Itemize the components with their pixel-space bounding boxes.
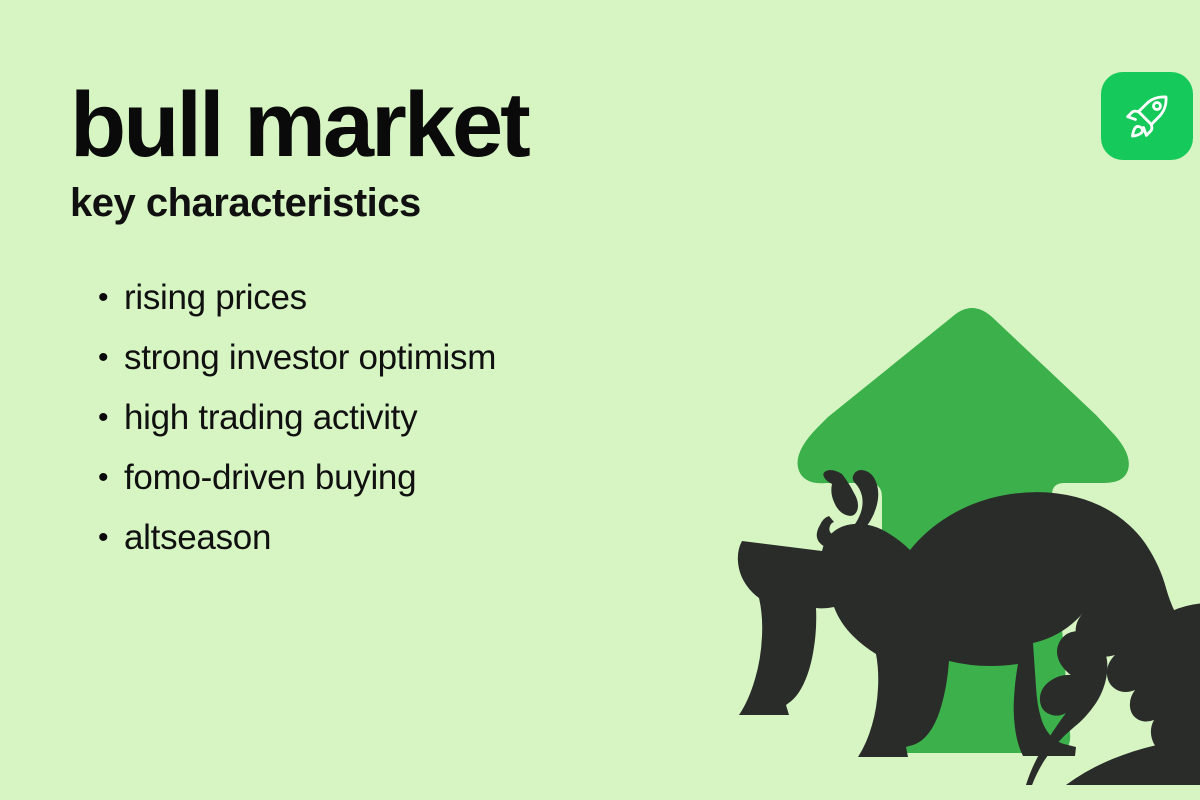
page-subtitle: key characteristics xyxy=(70,181,710,226)
list-item: • strong investor optimism xyxy=(98,328,496,388)
bull-market-illustration xyxy=(700,285,1200,785)
bullet-marker-icon: • xyxy=(98,268,124,328)
poster-canvas: bull market key characteristics • rising… xyxy=(0,0,1200,800)
list-item: • altseason xyxy=(98,508,496,568)
bullet-marker-icon: • xyxy=(98,448,124,508)
list-item: • fomo-driven buying xyxy=(98,448,496,508)
list-item-label: altseason xyxy=(124,508,271,568)
bullet-marker-icon: • xyxy=(98,388,124,448)
heading-block: bull market key characteristics xyxy=(70,82,710,226)
list-item: • high trading activity xyxy=(98,388,496,448)
bullet-marker-icon: • xyxy=(98,328,124,388)
list-item-label: high trading activity xyxy=(124,388,417,448)
bullet-marker-icon: • xyxy=(98,508,124,568)
list-item-label: rising prices xyxy=(124,268,307,328)
list-item-label: fomo-driven buying xyxy=(124,448,416,508)
bull-icon xyxy=(738,470,1200,757)
page-title: bull market xyxy=(70,82,710,169)
rocket-icon xyxy=(1121,90,1173,142)
rocket-badge[interactable] xyxy=(1101,72,1193,160)
characteristics-list: • rising prices • strong investor optimi… xyxy=(98,268,496,568)
list-item-label: strong investor optimism xyxy=(124,328,496,388)
list-item: • rising prices xyxy=(98,268,496,328)
